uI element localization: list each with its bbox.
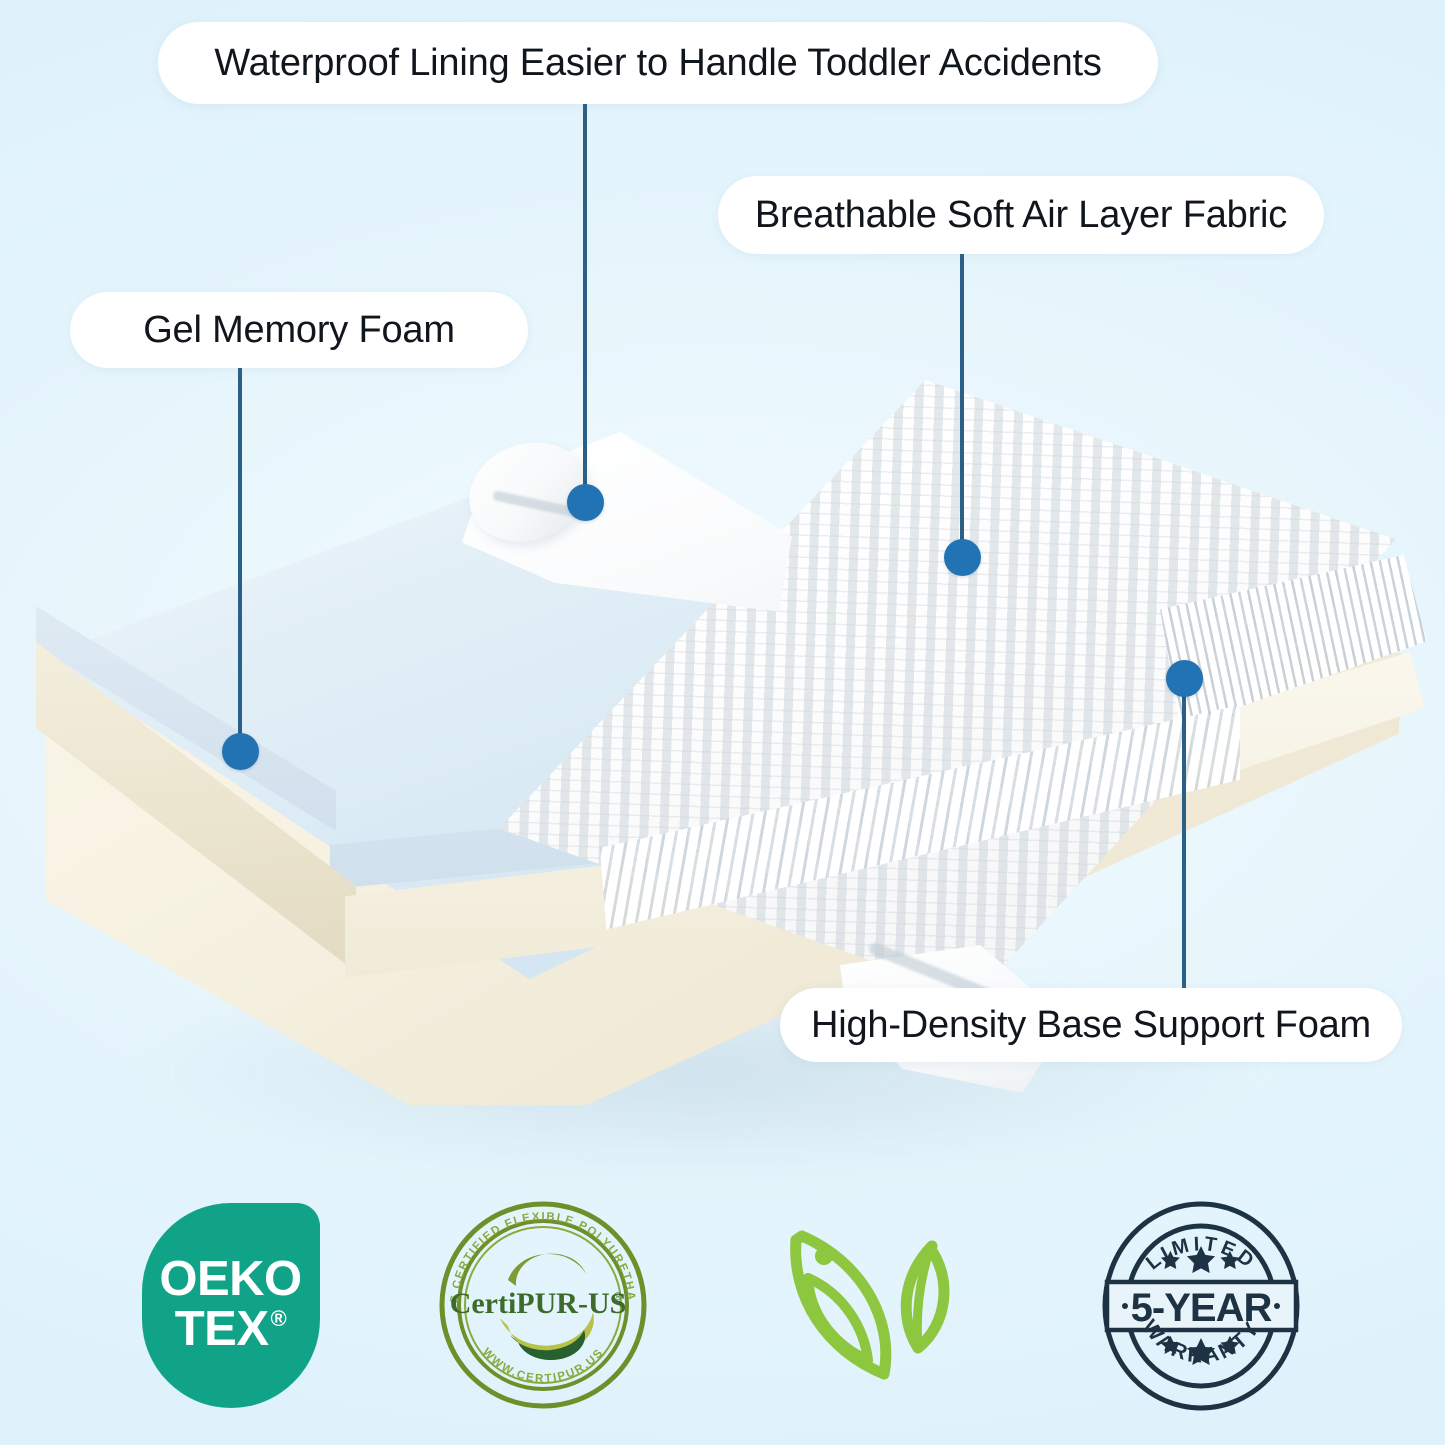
oeko-tex-badge: OEKO TEX ® [142, 1203, 320, 1408]
callout-dot-waterproof[interactable] [567, 484, 604, 521]
warranty-seal-icon: LIMITED WARRANTY [1099, 1198, 1304, 1413]
callout-label-waterproof-text: Waterproof Lining Easier to Handle Toddl… [214, 42, 1101, 85]
leader-line-breathable [960, 250, 964, 562]
leader-line-waterproof [583, 98, 587, 506]
callout-label-gel-memory-foam: Gel Memory Foam [70, 292, 528, 368]
eco-leaves-badge [766, 1220, 981, 1390]
certipur-us-icon: CONTAINS CERTIFIED FLEXIBLE POLYURETHANE… [438, 1200, 648, 1410]
callout-label-breathable: Breathable Soft Air Layer Fabric [718, 176, 1324, 254]
callout-label-breathable-text: Breathable Soft Air Layer Fabric [755, 194, 1287, 237]
leader-line-gel-memory-foam [238, 362, 242, 754]
leader-line-base-foam [1182, 690, 1186, 990]
callout-label-base-foam: High-Density Base Support Foam [780, 988, 1402, 1062]
oeko-tex-registered-mark: ® [271, 1308, 287, 1330]
warranty-center-text: 5-YEAR [1130, 1286, 1272, 1330]
callout-label-waterproof: Waterproof Lining Easier to Handle Toddl… [158, 22, 1158, 104]
oeko-tex-line2: TEX [175, 1305, 269, 1355]
oeko-tex-line2-wrap: TEX ® [175, 1305, 287, 1355]
infographic-canvas: Waterproof Lining Easier to Handle Toddl… [0, 0, 1445, 1445]
callout-label-base-foam-text: High-Density Base Support Foam [811, 1004, 1371, 1047]
certipur-registered-mark: ® [614, 1291, 622, 1303]
eco-leaves-icon [766, 1220, 981, 1390]
callout-dot-gel-memory-foam[interactable] [222, 733, 259, 770]
callout-dot-breathable[interactable] [944, 539, 981, 576]
callout-label-gel-memory-foam-text: Gel Memory Foam [143, 309, 455, 352]
oeko-tex-line1: OEKO [159, 1255, 301, 1305]
oeko-tex-icon: OEKO TEX ® [142, 1203, 320, 1408]
callout-dot-base-foam[interactable] [1166, 660, 1203, 697]
warranty-badge: LIMITED WARRANTY [1099, 1198, 1304, 1413]
certification-badge-row: OEKO TEX ® [0, 1185, 1445, 1425]
certipur-us-badge: CONTAINS CERTIFIED FLEXIBLE POLYURETHANE… [438, 1200, 648, 1410]
certipur-center-text: CertiPUR-US [449, 1287, 626, 1320]
